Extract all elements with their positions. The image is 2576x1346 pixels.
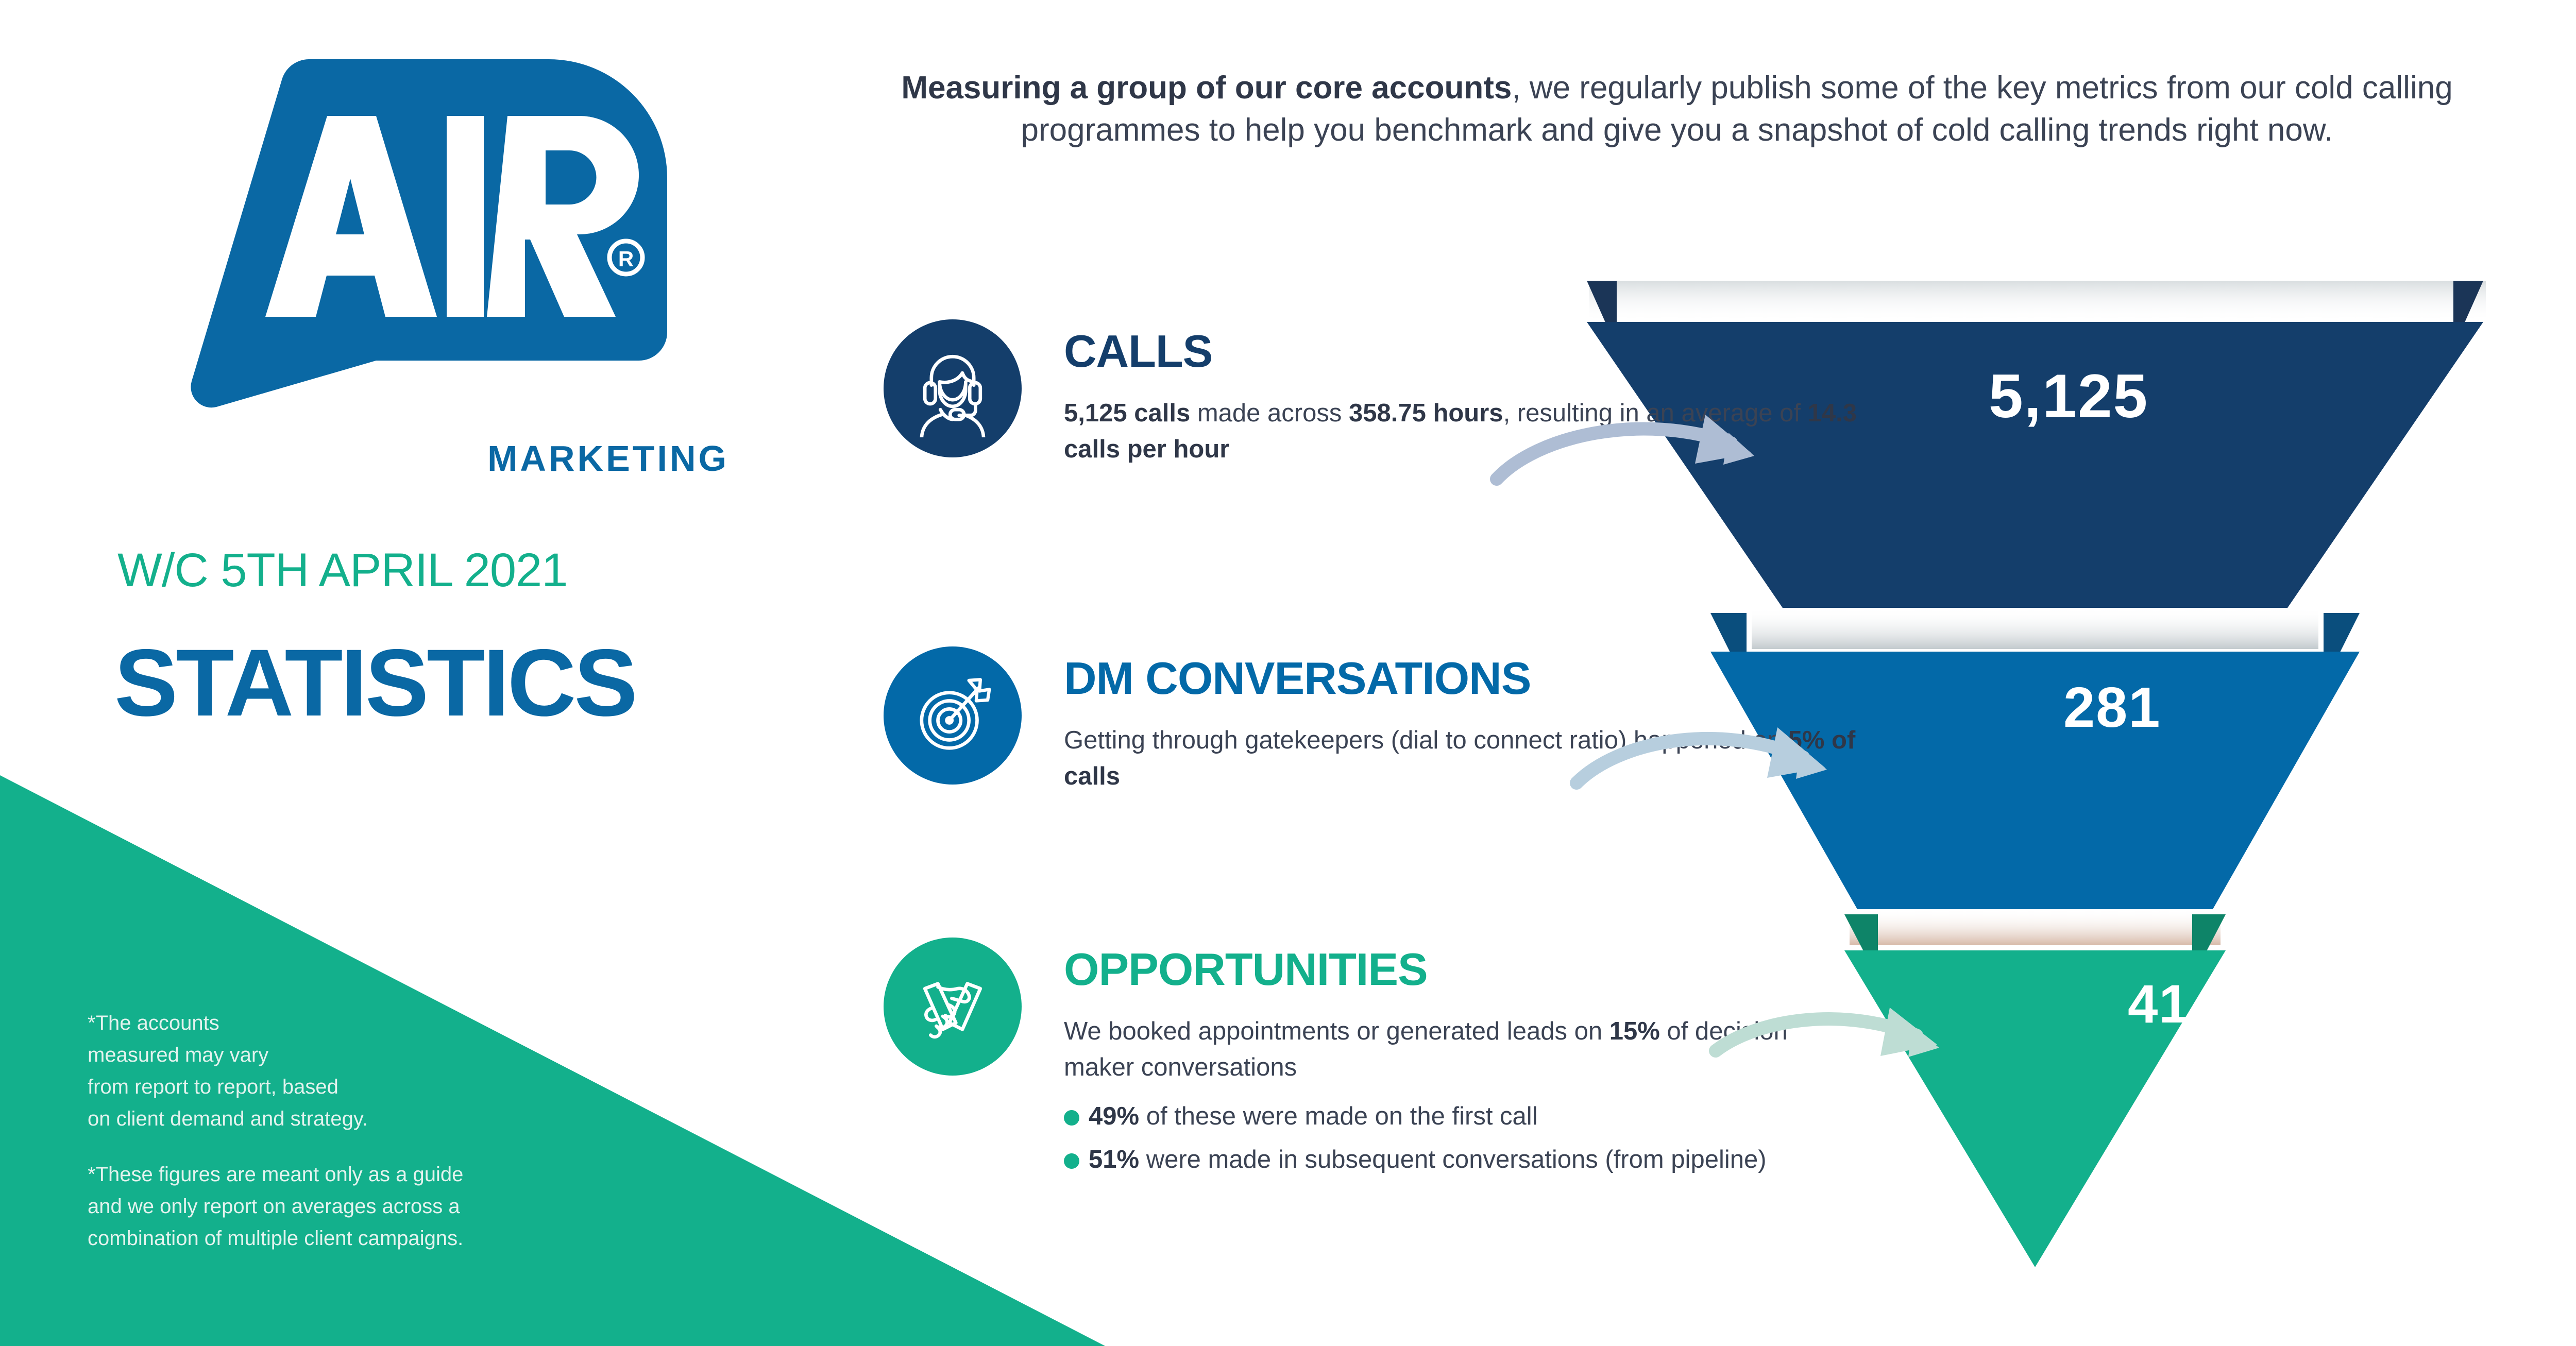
dm-icon-badge bbox=[884, 646, 1022, 785]
intro-paragraph: Measuring a group of our core accounts, … bbox=[896, 67, 2458, 152]
dm-text-block: DM CONVERSATIONS Getting through gatekee… bbox=[1064, 656, 1862, 794]
air-logo-mark: R bbox=[111, 31, 698, 422]
emphasis-text: 15% bbox=[1609, 1017, 1660, 1045]
calls-icon-badge bbox=[884, 319, 1022, 457]
emphasis-text: 358.75 hours bbox=[1349, 399, 1503, 427]
bullet-dot-icon bbox=[1064, 1153, 1079, 1169]
body-text: of these were made on the first call bbox=[1139, 1102, 1538, 1130]
dm-title: DM CONVERSATIONS bbox=[1064, 656, 1862, 701]
calls-description: 5,125 calls made across 358.75 hours, re… bbox=[1064, 396, 1862, 467]
bullet-text: 49% of these were made on the first call bbox=[1089, 1099, 1538, 1135]
body-text: Getting through gatekeepers (dial to con… bbox=[1064, 726, 1788, 754]
opportunities-description: We booked appointments or generated lead… bbox=[1064, 1014, 1862, 1085]
calls-title: CALLS bbox=[1064, 329, 1862, 374]
bullet-text: 51% were made in subsequent conversation… bbox=[1089, 1142, 1767, 1178]
bullet-dot-icon bbox=[1064, 1110, 1079, 1126]
air-marketing-logo: R MARKETING bbox=[111, 31, 729, 443]
body-text: made across bbox=[1190, 399, 1349, 427]
funnel-value-dm: 281 bbox=[2063, 675, 2161, 740]
footnote-paragraph: *The accountsmeasured may varyfrom repor… bbox=[88, 1007, 654, 1135]
bullet-item: 49% of these were made on the first call bbox=[1064, 1099, 1862, 1135]
funnel-value-calls: 5,125 bbox=[1989, 361, 2148, 432]
target-dart-icon bbox=[904, 667, 1002, 764]
opportunities-bullets: 49% of these were made on the first call… bbox=[1064, 1099, 1862, 1178]
funnel-value-opportunities: 41 bbox=[2128, 974, 2190, 1035]
emphasis-text: 5,125 calls bbox=[1064, 399, 1190, 427]
opportunities-title: OPPORTUNITIES bbox=[1064, 947, 1862, 992]
infographic-canvas: R MARKETING W/C 5TH APRIL 2021 STATISTIC… bbox=[0, 0, 2576, 1346]
svg-text:R: R bbox=[618, 247, 634, 271]
dm-description: Getting through gatekeepers (dial to con… bbox=[1064, 723, 1862, 794]
opportunities-icon-badge bbox=[884, 938, 1022, 1076]
logo-subtitle: MARKETING bbox=[399, 438, 729, 479]
calls-text-block: CALLS 5,125 calls made across 358.75 hou… bbox=[1064, 329, 1862, 467]
emphasis-text: 51% bbox=[1089, 1146, 1139, 1173]
headset-agent-icon bbox=[904, 339, 1002, 437]
emphasis-text: 49% bbox=[1089, 1102, 1139, 1130]
footnote-paragraph: *These figures are meant only as a guide… bbox=[88, 1158, 654, 1254]
week-commencing-date: W/C 5TH APRIL 2021 bbox=[117, 543, 787, 598]
intro-bold-lead: Measuring a group of our core accounts bbox=[901, 70, 1512, 106]
body-text: , resulting in an average of bbox=[1503, 399, 1808, 427]
handshake-icon bbox=[904, 958, 1002, 1055]
bullet-item: 51% were made in subsequent conversation… bbox=[1064, 1142, 1862, 1178]
body-text: were made in subsequent conversations (f… bbox=[1139, 1146, 1766, 1173]
body-text: We booked appointments or generated lead… bbox=[1064, 1017, 1609, 1045]
page-title: STATISTICS bbox=[114, 628, 887, 738]
footnotes-block: *The accountsmeasured may varyfrom repor… bbox=[88, 1007, 654, 1254]
opportunities-text-block: OPPORTUNITIES We booked appointments or … bbox=[1064, 947, 1862, 1178]
